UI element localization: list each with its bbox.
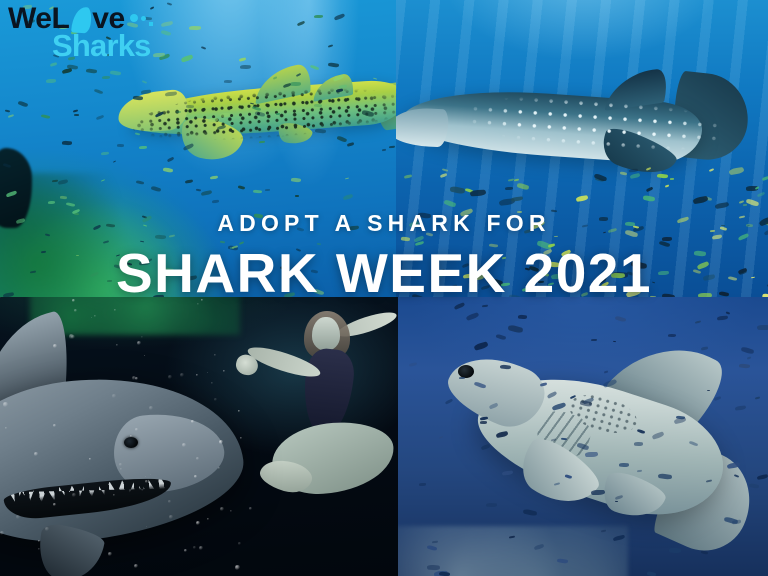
fish <box>486 503 497 508</box>
fish <box>18 100 29 107</box>
bubble <box>180 373 184 377</box>
bubble <box>184 549 187 552</box>
fish <box>669 547 682 553</box>
bubble <box>114 309 116 311</box>
fish <box>743 204 747 206</box>
fish <box>238 185 246 190</box>
fish <box>749 483 760 489</box>
fish <box>239 57 247 61</box>
bubble <box>191 420 194 423</box>
fish <box>167 157 174 162</box>
bubble <box>135 428 138 431</box>
bubble <box>199 546 203 550</box>
fish <box>746 198 760 208</box>
bubble <box>194 475 197 478</box>
bubble <box>130 435 132 437</box>
bubble <box>207 518 209 520</box>
fish <box>224 80 232 83</box>
fish <box>48 201 55 204</box>
bubble <box>38 548 40 550</box>
reef-shark-panel <box>398 297 768 576</box>
bubble <box>5 427 7 429</box>
fish <box>41 114 50 120</box>
fish <box>613 341 616 343</box>
dot-small-icon <box>141 16 146 21</box>
fish <box>94 88 104 95</box>
fish <box>518 314 528 319</box>
fish <box>665 184 670 187</box>
bubble <box>223 370 225 372</box>
fish <box>735 405 746 410</box>
fish <box>265 189 270 191</box>
bubble <box>71 335 75 339</box>
fish <box>444 199 457 208</box>
headline-block: ADOPT A SHARK FOR SHARK WEEK 2021 <box>0 212 768 301</box>
shark-diver-scene <box>0 297 398 576</box>
fish <box>646 187 653 192</box>
fish <box>427 564 440 570</box>
fish <box>450 185 465 194</box>
fish <box>409 362 417 366</box>
fish <box>693 196 709 204</box>
bubble <box>108 552 112 556</box>
fish <box>110 70 122 76</box>
fish <box>709 168 715 172</box>
fish <box>208 118 218 122</box>
bubble <box>238 542 241 545</box>
fish <box>290 82 301 87</box>
fish <box>86 68 97 74</box>
bubble <box>145 476 146 477</box>
fish <box>576 195 588 201</box>
fish <box>102 76 110 79</box>
fish <box>5 109 10 112</box>
sand-tiger-shark-diver-panel <box>0 297 398 576</box>
bubble <box>150 474 151 475</box>
fish <box>291 177 301 182</box>
bubble <box>249 507 252 510</box>
fish <box>201 46 207 50</box>
bubble <box>53 344 57 348</box>
whale-shark <box>402 78 732 178</box>
fish <box>212 200 219 203</box>
fish <box>295 195 299 197</box>
dot-large-icon <box>130 14 138 22</box>
fish <box>276 113 280 115</box>
dot-square-icon <box>149 22 153 26</box>
fish <box>117 144 124 147</box>
fish <box>101 152 109 155</box>
bubble <box>141 336 143 338</box>
bubble <box>196 521 200 525</box>
bubble <box>169 515 173 519</box>
fish <box>96 115 104 120</box>
fish <box>505 187 513 190</box>
reef-shark <box>452 345 742 545</box>
bubble <box>149 406 153 410</box>
fish <box>511 196 523 202</box>
fish <box>695 320 702 324</box>
bubble <box>207 372 208 373</box>
bubble <box>168 500 171 503</box>
bubble <box>214 354 216 356</box>
logo-dots-decoration <box>130 12 153 26</box>
fish <box>647 571 657 576</box>
fish <box>440 173 448 178</box>
bubble <box>219 440 223 444</box>
bubble <box>182 443 186 447</box>
fish <box>404 174 412 178</box>
fish <box>619 463 629 468</box>
fish <box>585 452 598 457</box>
bubble <box>53 424 56 427</box>
bubble <box>89 458 91 460</box>
fish <box>514 179 519 182</box>
fish <box>74 114 79 116</box>
bubble <box>145 480 148 483</box>
bubble <box>3 402 8 407</box>
bubble <box>220 507 224 511</box>
bubble <box>94 315 96 317</box>
fish <box>646 167 651 170</box>
fish <box>314 15 323 19</box>
fish <box>459 377 465 379</box>
fish <box>762 176 768 180</box>
fish <box>629 169 638 173</box>
fish <box>670 178 674 180</box>
bubble <box>119 463 122 466</box>
bubble <box>196 457 199 460</box>
bubble <box>235 565 240 570</box>
fish <box>591 339 597 341</box>
bubble <box>74 309 77 312</box>
fish <box>439 436 443 438</box>
fish <box>508 324 524 334</box>
fish <box>508 179 514 182</box>
fish <box>757 325 768 331</box>
fish <box>240 65 251 70</box>
fish <box>747 356 751 359</box>
fish <box>161 21 173 27</box>
bubble <box>137 341 141 345</box>
fish <box>328 44 334 47</box>
fish <box>630 173 640 178</box>
fish <box>185 180 194 184</box>
bubble <box>240 437 242 439</box>
bubble <box>168 375 172 379</box>
bubble <box>38 540 40 542</box>
bubble <box>34 452 38 456</box>
bubbles <box>0 297 398 576</box>
fish <box>345 178 349 180</box>
bubble <box>16 515 20 519</box>
bubble <box>134 564 138 568</box>
bubble <box>116 344 118 346</box>
fish <box>46 79 56 83</box>
fish <box>297 21 305 26</box>
fish <box>615 315 627 323</box>
fish <box>210 176 219 180</box>
logo-word-we: We <box>8 4 51 34</box>
fish <box>196 189 201 192</box>
fish <box>189 26 201 31</box>
fish <box>496 333 506 340</box>
bubble <box>120 468 122 470</box>
fish <box>634 442 644 446</box>
bubble <box>196 374 198 376</box>
fish <box>741 346 755 355</box>
poster: We L ve Sharks ADOPT A SHARK FOR SHARK W… <box>0 0 768 576</box>
fish <box>161 29 172 36</box>
fish <box>442 168 448 172</box>
bubble <box>72 493 76 497</box>
fish <box>755 397 760 400</box>
fish <box>62 141 72 146</box>
bubble <box>53 503 56 506</box>
fish <box>343 194 354 200</box>
bubble <box>144 355 145 356</box>
fish <box>253 189 262 193</box>
fish <box>470 190 486 197</box>
fish <box>466 312 480 321</box>
fish <box>643 195 656 203</box>
bubble <box>146 526 147 527</box>
leopard-shark <box>128 62 396 152</box>
reef-shark-scene <box>398 297 768 576</box>
bubble <box>211 382 213 384</box>
fish <box>668 334 676 338</box>
shark-fin-icon <box>71 6 91 33</box>
fish <box>517 182 530 191</box>
bubble <box>218 467 220 469</box>
fish <box>439 571 451 576</box>
fish <box>757 192 765 197</box>
bubble <box>113 494 115 496</box>
fish <box>181 54 194 62</box>
fish <box>657 173 668 179</box>
bubble <box>91 317 92 318</box>
we-love-sharks-logo[interactable]: We L ve Sharks <box>8 4 153 61</box>
fish <box>729 167 745 175</box>
fish <box>73 109 78 112</box>
fish <box>113 160 117 163</box>
logo-word-sharks: Sharks <box>52 30 153 61</box>
bubble <box>112 394 116 398</box>
bubble <box>238 410 240 412</box>
headline-title: SHARK WEEK 2021 <box>0 246 768 301</box>
fish <box>757 474 768 480</box>
fish <box>620 171 628 176</box>
fish <box>334 13 345 20</box>
fish <box>167 2 172 5</box>
fish <box>717 316 728 321</box>
fish <box>419 483 426 486</box>
bubble <box>214 398 217 401</box>
bubble <box>0 531 4 535</box>
fish <box>480 421 487 424</box>
bubble <box>230 510 232 512</box>
fish <box>726 311 730 314</box>
fish <box>8 114 15 118</box>
fish <box>715 202 730 209</box>
fish <box>62 68 72 73</box>
bubble <box>193 546 196 549</box>
fish <box>482 305 488 308</box>
bubble <box>45 527 49 531</box>
headline-kicker: ADOPT A SHARK FOR <box>0 212 768 235</box>
fish <box>201 190 212 196</box>
